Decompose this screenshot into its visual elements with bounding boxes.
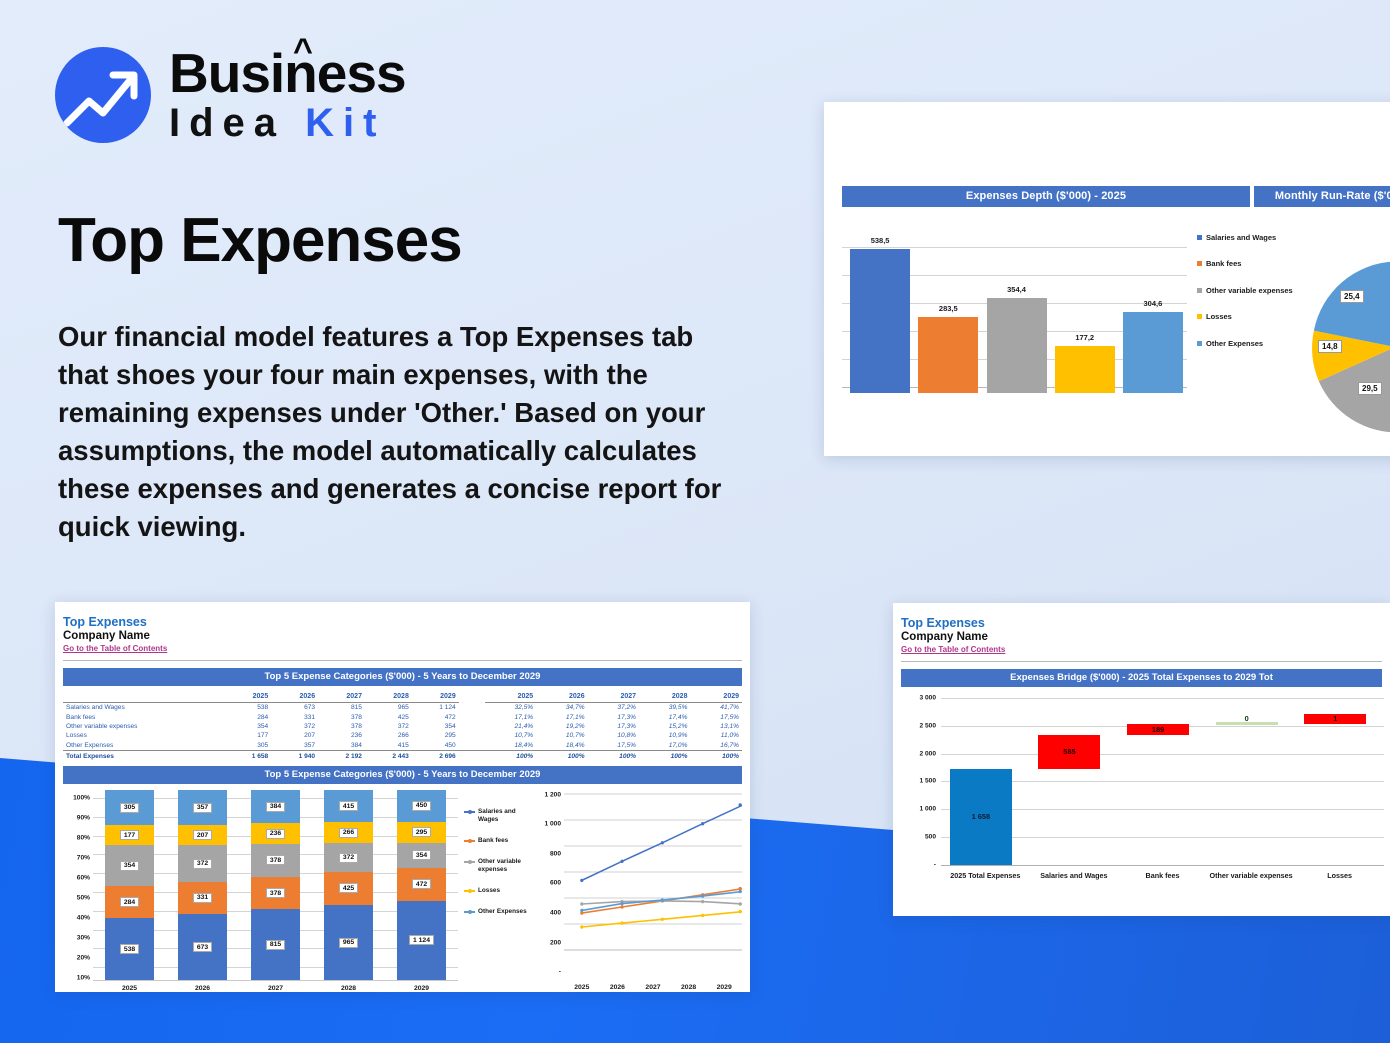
legend-item-losses: Losses — [464, 887, 530, 895]
seg-value: 354 — [412, 850, 431, 860]
legend-label: Other Expenses — [1206, 339, 1263, 348]
x-tick: Salaries and Wages — [1030, 865, 1119, 887]
cell: 357 — [271, 741, 318, 751]
waterfall-chart: - 500 1 000 1 500 2 000 2 500 3 000 1 65… — [899, 691, 1384, 887]
legend-line-icon — [464, 811, 475, 813]
bar-value: 354,4 — [987, 285, 1047, 294]
y-tick: 10% — [77, 975, 90, 982]
cell: 354 — [412, 722, 459, 731]
cell: 305 — [224, 741, 271, 751]
table-total-row: Total Expenses 1 658 1 940 2 192 2 443 2… — [63, 750, 742, 761]
x-tick: 2025 Total Expenses — [941, 865, 1030, 887]
table-row: Other variable expenses 354 372 378 372 … — [63, 722, 742, 731]
legend-line-icon — [464, 911, 475, 913]
line-y-axis: - 200 400 600 800 1 000 1 200 — [530, 790, 564, 992]
row-label: Other variable expenses — [63, 722, 224, 731]
legend-label: Salaries and Wages — [478, 808, 530, 824]
bar-value: 189 — [1152, 725, 1164, 734]
x-tick: 2025 — [93, 981, 166, 992]
x-tick: 2027 — [239, 981, 312, 992]
cell-pct: 17,0% — [639, 741, 690, 751]
col-pct-2027: 2027 — [588, 686, 639, 703]
table-of-contents-link[interactable]: Go to the Table of Contents — [901, 645, 1390, 654]
expenses-bridge-card: Top Expenses Company Name Go to the Tabl… — [893, 603, 1390, 916]
seg-value: 284 — [120, 897, 139, 907]
waterfall-y-axis: - 500 1 000 1 500 2 000 2 500 3 000 — [899, 691, 939, 865]
seg-value: 472 — [412, 879, 431, 889]
cell-pct: 100% — [485, 750, 536, 761]
charts-row: 0% 10% 20% 30% 40% 50% 60% 70% 80% 90% 1… — [63, 784, 742, 992]
legend-label: Bank fees — [478, 837, 508, 845]
expenses-depth-card: Expenses Depth ($'000) - 2025 Monthly Ru… — [824, 102, 1390, 456]
table-row: Other Expenses 305 357 384 415 450 18,4%… — [63, 741, 742, 751]
seg-value: 266 — [339, 828, 358, 838]
seg-value: 207 — [193, 830, 212, 840]
seg-value: 331 — [193, 893, 212, 903]
expenses-depth-title: Expenses Depth ($'000) - 2025 — [842, 186, 1250, 207]
seg-value: 415 — [339, 801, 358, 811]
cell: 354 — [224, 722, 271, 731]
cell-pct: 18,4% — [536, 741, 587, 751]
cell: 266 — [365, 731, 412, 740]
col-pct-2028: 2028 — [639, 686, 690, 703]
divider — [63, 660, 742, 661]
cell-pct: 10,9% — [639, 731, 690, 740]
seg-value: 295 — [412, 827, 431, 837]
legend-line-icon — [464, 890, 475, 892]
stacked-column-2025: 305 177 354 284 538 — [93, 790, 166, 980]
seg-value: 384 — [266, 802, 285, 812]
waterfall-bar-bank-fees: 189 — [1127, 724, 1189, 735]
seg-value: 965 — [339, 938, 358, 948]
brand-idea-text: Idea — [169, 101, 285, 145]
legend-label: Losses — [478, 887, 500, 895]
pie-label-other-variable-expenses: 29,5 — [1358, 382, 1382, 395]
cell: 177 — [224, 731, 271, 740]
top-expenses-table-card: Top Expenses Company Name Go to the Tabl… — [55, 602, 750, 992]
cell: 2 443 — [365, 750, 412, 761]
cell: 415 — [365, 741, 412, 751]
brand-name-text: Business — [169, 42, 406, 104]
legend-swatch-icon — [1197, 288, 1202, 293]
row-label: Losses — [63, 731, 224, 740]
waterfall-bar-salaries-and-wages: 585 — [1038, 735, 1100, 769]
page-title: Top Expenses — [58, 205, 462, 276]
cell-pct: 17,3% — [588, 722, 639, 731]
cell: 965 — [365, 703, 412, 713]
bar-value: 304,6 — [1123, 299, 1183, 308]
table-header-row: 2025 2026 2027 2028 2029 2025 2026 2027 … — [63, 686, 742, 703]
sheet-header: Top Expenses Company Name Go to the Tabl… — [55, 602, 750, 653]
cell: 207 — [271, 731, 318, 740]
seg-value: 357 — [193, 803, 212, 813]
seg-value: 305 — [120, 803, 139, 813]
cell-pct: 11,0% — [690, 731, 742, 740]
bridge-banner: Expenses Bridge ($'000) - 2025 Total Exp… — [901, 669, 1382, 687]
sheet-header: Top Expenses Company Name Go to the Tabl… — [893, 603, 1390, 654]
y-tick: 800 — [550, 850, 561, 857]
bar-other-expenses: 304,6 — [1119, 229, 1187, 393]
col-2027: 2027 — [318, 686, 365, 703]
cell-pct: 10,7% — [536, 731, 587, 740]
row-label: Total Expenses — [63, 750, 224, 761]
cell: 378 — [318, 722, 365, 731]
charts-banner: Top 5 Expense Categories ($'000) - 5 Yea… — [63, 766, 742, 784]
y-tick: 50% — [77, 895, 90, 902]
stacked-column-2028: 415 266 372 425 965 — [312, 790, 385, 980]
pie-label-other-expenses: 25,4 — [1340, 290, 1364, 303]
y-tick: 20% — [77, 955, 90, 962]
pie-label-losses: 14,8 — [1318, 340, 1342, 353]
brand-name-line2: Idea Kit — [169, 103, 406, 143]
cell: 384 — [318, 741, 365, 751]
cell-pct: 21,4% — [485, 722, 536, 731]
seg-value: 372 — [193, 859, 212, 869]
cell: 472 — [412, 712, 459, 721]
y-tick: 90% — [77, 815, 90, 822]
col-2029: 2029 — [412, 686, 459, 703]
col-2025: 2025 — [224, 686, 271, 703]
y-tick: - — [559, 969, 561, 976]
cell-pct: 13,1% — [690, 722, 742, 731]
y-tick: 500 — [925, 834, 936, 841]
x-tick: Bank fees — [1118, 865, 1207, 887]
bar-value: 0 — [1245, 714, 1249, 723]
cell: 1 658 — [224, 750, 271, 761]
y-tick: 60% — [77, 875, 90, 882]
sheet-subtitle: Company Name — [63, 630, 750, 642]
cell: 284 — [224, 712, 271, 721]
cell-pct: 17,5% — [588, 741, 639, 751]
bar-value: 1 658 — [972, 812, 991, 821]
x-tick: 2027 — [635, 980, 671, 992]
cell-pct: 15,2% — [639, 722, 690, 731]
cell: 372 — [271, 722, 318, 731]
waterfall-plot-area: 1 658 585 189 0 1 — [941, 691, 1384, 865]
cell: 673 — [271, 703, 318, 713]
y-tick: 70% — [77, 855, 90, 862]
brand-kit-text: Kit — [305, 101, 385, 145]
y-tick: 600 — [550, 880, 561, 887]
table-row: Bank fees 284 331 378 425 472 17,1% 17,1… — [63, 712, 742, 721]
sheet-title: Top Expenses — [901, 616, 1390, 630]
legend-item-other-variable-expenses: Other variable expenses — [464, 858, 530, 874]
seg-value: 236 — [266, 829, 285, 839]
legend-line-icon — [464, 840, 475, 842]
cell-pct: 34,7% — [536, 703, 587, 713]
bar-value: 283,5 — [918, 304, 978, 313]
x-tick: 2028 — [312, 981, 385, 992]
cell-pct: 17,1% — [536, 712, 587, 721]
cell-pct: 16,7% — [690, 741, 742, 751]
waterfall-x-axis: 2025 Total Expenses Salaries and Wages B… — [941, 865, 1384, 887]
y-tick: 80% — [77, 835, 90, 842]
bar-value: 177,2 — [1055, 333, 1115, 342]
legend-label: Other variable expenses — [478, 858, 530, 874]
seg-value: 1 124 — [409, 935, 434, 945]
cell: 378 — [318, 712, 365, 721]
table-row: Losses 177 207 236 266 295 10,7% 10,7% 1… — [63, 731, 742, 740]
bar-other-variable-expenses: 354,4 — [982, 229, 1050, 393]
brand-logo: Business ^ Idea Kit — [55, 46, 406, 143]
stacked-column-2026: 357 207 372 331 673 — [166, 790, 239, 980]
cell: 425 — [365, 712, 412, 721]
y-tick: 1 000 — [919, 806, 936, 813]
cell-pct: 10,7% — [485, 731, 536, 740]
waterfall-bar-other-variable-expenses: 0 — [1216, 722, 1278, 725]
cell-pct: 100% — [536, 750, 587, 761]
depth-chart-banners: Expenses Depth ($'000) - 2025 Monthly Ru… — [842, 186, 1390, 207]
cell-pct: 100% — [588, 750, 639, 761]
x-tick: 2026 — [600, 980, 636, 992]
seg-value: 177 — [120, 830, 139, 840]
stacked-columns: 305 177 354 284 538 357 207 372 331 673 — [93, 790, 458, 980]
cell: 2 696 — [412, 750, 459, 761]
table-row: Salaries and Wages 538 673 815 965 1 124… — [63, 703, 742, 713]
cell-pct: 10,8% — [588, 731, 639, 740]
legend-line-icon — [464, 861, 475, 863]
page-description: Our financial model features a Top Expen… — [58, 318, 748, 546]
cell-pct: 32,5% — [485, 703, 536, 713]
depth-bars: 538,5 283,5 354,4 177,2 — [846, 229, 1187, 393]
legend-item-salaries-and-wages: Salaries and Wages — [464, 808, 530, 824]
bar-value: 1 — [1333, 714, 1337, 723]
line-plot-area: 2025 2026 2027 2028 2029 — [564, 790, 742, 992]
seg-value: 450 — [412, 801, 431, 811]
cell-pct: 100% — [639, 750, 690, 761]
y-tick: 1 500 — [919, 778, 936, 785]
row-label: Other Expenses — [63, 741, 224, 751]
x-tick: 2026 — [166, 981, 239, 992]
cell-pct: 19,2% — [536, 722, 587, 731]
stacked-column-2027: 384 236 378 378 815 — [239, 790, 312, 980]
cell-pct: 17,4% — [639, 712, 690, 721]
line-series-svg — [564, 790, 742, 972]
seg-value: 372 — [339, 853, 358, 863]
cell: 331 — [271, 712, 318, 721]
col-pct-2025: 2025 — [485, 686, 536, 703]
monthly-run-rate-pie: 25,4 14,8 29,5 2 — [1300, 252, 1390, 442]
legend-swatch-icon — [1197, 261, 1202, 266]
legend-item-other-expenses: Other Expenses — [464, 908, 530, 916]
cell: 538 — [224, 703, 271, 713]
line-x-axis: 2025 2026 2027 2028 2029 — [564, 980, 742, 992]
legend-label: Other Expenses — [478, 908, 527, 916]
legend-label: Bank fees — [1206, 259, 1241, 268]
cell-pct: 18,4% — [485, 741, 536, 751]
trending-up-arrow-icon — [55, 47, 151, 143]
col-2028: 2028 — [365, 686, 412, 703]
y-tick: 2 500 — [919, 722, 936, 729]
seg-value: 425 — [339, 883, 358, 893]
x-tick: Other variable expenses — [1207, 865, 1296, 887]
cell: 1 940 — [271, 750, 318, 761]
cell-pct: 17,3% — [588, 712, 639, 721]
seg-value: 538 — [120, 944, 139, 954]
legend-label: Losses — [1206, 312, 1232, 321]
cell-pct: 39,5% — [639, 703, 690, 713]
bar-value: 585 — [1063, 747, 1075, 756]
legend-swatch-icon — [1197, 235, 1202, 240]
seg-value: 673 — [193, 942, 212, 952]
table-banner: Top 5 Expense Categories ($'000) - 5 Yea… — [63, 668, 742, 686]
seg-value: 378 — [266, 888, 285, 898]
cell: 372 — [365, 722, 412, 731]
bar-losses: 177,2 — [1051, 229, 1119, 393]
y-tick: 200 — [550, 939, 561, 946]
bar-bank-fees: 283,5 — [914, 229, 982, 393]
y-tick: - — [934, 862, 936, 869]
cell: 236 — [318, 731, 365, 740]
brand-circumflex-icon: ^ — [293, 34, 312, 68]
line-chart-legend: Salaries and Wages Bank fees Other varia… — [458, 784, 530, 992]
divider — [901, 661, 1382, 662]
pie-chart-icon — [1300, 252, 1390, 442]
legend-swatch-icon — [1197, 314, 1202, 319]
stacked-column-2029: 450 295 354 472 1 124 — [385, 790, 458, 980]
x-tick: 2029 — [385, 981, 458, 992]
legend-item-bank-fees: Bank fees — [464, 837, 530, 845]
cell: 1 124 — [412, 703, 459, 713]
x-tick: 2029 — [706, 980, 742, 992]
legend-label: Other variable expenses — [1206, 286, 1293, 295]
x-tick: 2025 — [564, 980, 600, 992]
y-tick: 100% — [73, 795, 90, 802]
row-label: Bank fees — [63, 712, 224, 721]
expenses-depth-plot: 538,5 283,5 354,4 177,2 — [842, 207, 1187, 403]
cell: 2 192 — [318, 750, 365, 761]
legend-label: Salaries and Wages — [1206, 233, 1276, 242]
waterfall-bar-losses: 1 — [1304, 714, 1366, 724]
sheet-subtitle: Company Name — [901, 631, 1390, 643]
row-label: Salaries and Wages — [63, 703, 224, 713]
bar-value: 538,5 — [850, 236, 910, 245]
legend-swatch-icon — [1197, 341, 1202, 346]
y-tick: 40% — [77, 915, 90, 922]
stacked-column-chart: 0% 10% 20% 30% 40% 50% 60% 70% 80% 90% 1… — [63, 784, 458, 992]
cell: 815 — [318, 703, 365, 713]
table-of-contents-link[interactable]: Go to the Table of Contents — [63, 644, 750, 653]
stacked-plot-area: 305 177 354 284 538 357 207 372 331 673 — [93, 790, 458, 992]
x-tick: 2028 — [671, 980, 707, 992]
col-2026: 2026 — [271, 686, 318, 703]
col-pct-2026: 2026 — [536, 686, 587, 703]
cell: 295 — [412, 731, 459, 740]
cell: 450 — [412, 741, 459, 751]
cell-pct: 37,2% — [588, 703, 639, 713]
y-tick: 30% — [77, 935, 90, 942]
line-chart: - 200 400 600 800 1 000 1 200 — [530, 784, 742, 992]
monthly-run-rate-title: Monthly Run-Rate ($'000 — [1254, 186, 1390, 207]
seg-value: 378 — [266, 855, 285, 865]
cell-pct: 41,7% — [690, 703, 742, 713]
bar-salaries-and-wages: 538,5 — [846, 229, 914, 393]
y-tick: 3 000 — [919, 694, 936, 701]
stacked-y-axis: 0% 10% 20% 30% 40% 50% 60% 70% 80% 90% 1… — [63, 790, 93, 992]
y-tick: 400 — [550, 909, 561, 916]
legend-item-salaries-and-wages: Salaries and Wages — [1197, 233, 1390, 242]
x-tick: Losses — [1295, 865, 1384, 887]
col-pct-2029: 2029 — [690, 686, 742, 703]
waterfall-bar-2025-total: 1 658 — [950, 769, 1012, 865]
cell-pct: 17,1% — [485, 712, 536, 721]
sheet-title: Top Expenses — [63, 615, 750, 629]
brand-name-line1: Business ^ — [169, 46, 406, 101]
cell-pct: 100% — [690, 750, 742, 761]
y-tick: 1 200 — [544, 791, 561, 798]
seg-value: 815 — [266, 940, 285, 950]
seg-value: 354 — [120, 861, 139, 871]
cell-pct: 17,5% — [690, 712, 742, 721]
y-tick: 2 000 — [919, 750, 936, 757]
stacked-x-axis: 2025 2026 2027 2028 2029 — [93, 980, 458, 992]
y-tick: 1 000 — [544, 821, 561, 828]
expense-categories-table: 2025 2026 2027 2028 2029 2025 2026 2027 … — [63, 686, 742, 761]
